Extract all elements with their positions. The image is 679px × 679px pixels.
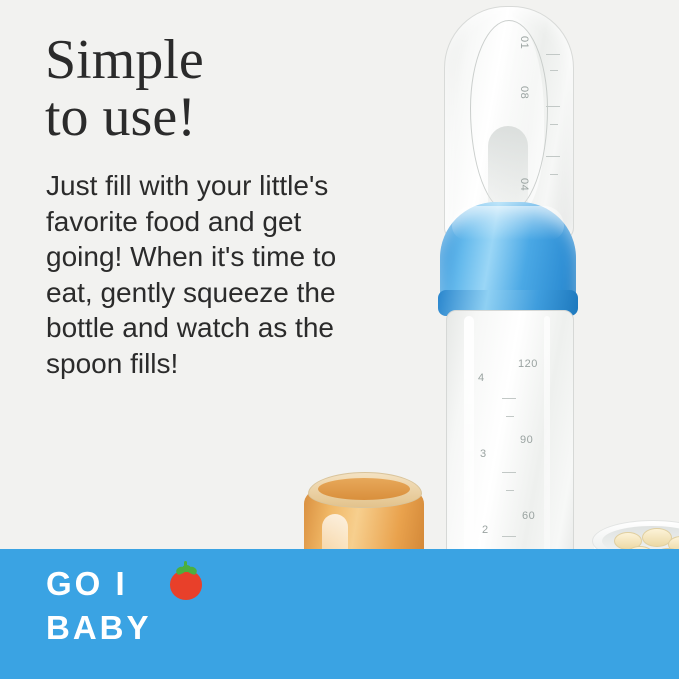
body-copy: Just fill with your little's favorite fo… [46,168,366,381]
tomato-stem [184,561,187,568]
tomato-icon [168,561,204,601]
tick-mark [546,54,560,55]
measurement-label-2: 2 [482,524,489,536]
tick-mark [502,536,516,537]
brand-logo: GO I BABY [46,565,306,657]
measurement-label-90: 90 [520,434,533,446]
measurement-label-3: 3 [480,448,487,460]
tick-mark [550,174,558,175]
measurement-label-08: 08 [518,86,530,99]
brand-name-goji: GO I [46,565,128,603]
brand-band: GO I BABY [0,549,679,679]
product-lifestyle-image: 01 08 04 120 4 90 3 60 2 30 1 OZ ML [0,0,679,679]
tick-mark [506,490,514,491]
measurement-label-120: 120 [518,358,538,370]
headline-line-2: to use! [45,89,375,146]
collar-highlight [452,206,564,240]
tick-mark [550,70,558,71]
tick-mark [550,124,558,125]
tick-mark [502,472,516,473]
page-title: Simple to use! [45,32,375,146]
tick-mark [546,156,560,157]
measurement-label-04: 04 [518,178,530,191]
measurement-label-4: 4 [478,372,485,384]
headline-line-1: Simple [45,29,204,91]
tick-mark [502,398,516,399]
brand-name-baby: BABY [46,609,152,647]
tick-mark [506,416,514,417]
tick-mark [546,106,560,107]
jar-opening [318,478,410,500]
measurement-label-60: 60 [522,510,535,522]
measurement-label-01: 01 [518,36,530,49]
